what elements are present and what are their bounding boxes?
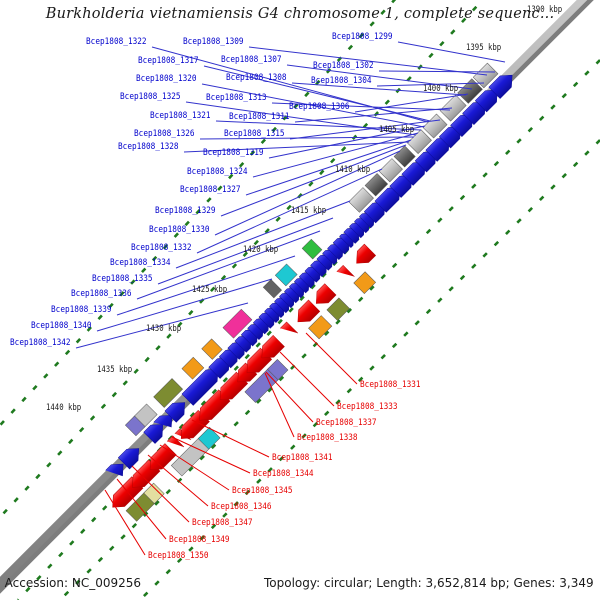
sequence-info-text: Topology: circular; Length: 3,652,814 bp… (264, 576, 594, 590)
ruler-tick: 1425 kbp (192, 286, 227, 295)
leader-line (306, 333, 357, 384)
feature-box (327, 298, 350, 321)
ruler-tick: 1395 kbp (466, 44, 501, 53)
backbone-line (0, 0, 600, 600)
genome-map-canvas[interactable] (0, 0, 600, 600)
gene-arrow (351, 244, 376, 269)
feature-box (302, 239, 322, 259)
leader-line (379, 71, 495, 72)
gene-label[interactable]: Bcep1808_1304 (311, 77, 372, 86)
backbone-shadow (0, 0, 600, 600)
gene-label[interactable]: Bcep1808_1307 (221, 56, 282, 65)
gene-label[interactable]: Bcep1808_1347 (192, 519, 253, 528)
gene-label[interactable]: Bcep1808_1349 (169, 536, 230, 545)
gene-label[interactable]: Bcep1808_1342 (10, 339, 71, 348)
feature-box (354, 272, 376, 294)
gene-label[interactable]: Bcep1808_1327 (180, 186, 241, 195)
gene-label[interactable]: Bcep1808_1308 (226, 74, 287, 83)
guide-lines (0, 0, 600, 600)
gene-label[interactable]: Bcep1808_1319 (203, 149, 264, 158)
gene-label[interactable]: Bcep1808_1326 (134, 130, 195, 139)
gene-label[interactable]: Bcep1808_1336 (71, 290, 132, 299)
feature-box (275, 264, 297, 286)
gene-label[interactable]: Bcep1808_1333 (337, 403, 398, 412)
gene-label[interactable]: Bcep1808_1320 (136, 75, 197, 84)
gene-label[interactable]: Bcep1808_1322 (86, 38, 147, 47)
gene-label[interactable]: Bcep1808_1317 (138, 57, 199, 66)
footer-bar: , Accession: NC_009256 Topology: circula… (0, 576, 600, 596)
gene-label[interactable]: Bcep1808_1345 (232, 487, 293, 496)
ruler-tick: 1440 kbp (46, 404, 81, 413)
gene-label[interactable]: Bcep1808_1339 (51, 306, 112, 315)
gene-label[interactable]: Bcep1808_1302 (313, 62, 374, 71)
feature-box (263, 279, 281, 297)
gene-label[interactable]: Bcep1808_1325 (120, 93, 181, 102)
gene-label[interactable]: Bcep1808_1344 (253, 470, 314, 479)
leader-line (266, 372, 313, 422)
ruler-tick: 1435 kbp (97, 366, 132, 375)
ruler-tick: 1390 kbp (527, 6, 562, 15)
gene-label[interactable]: Bcep1808_1321 (150, 112, 211, 121)
ruler-tick: 1410 kbp (335, 166, 370, 175)
gene-label[interactable]: Bcep1808_1299 (332, 33, 393, 42)
ruler-tick: 1405 kbp (379, 126, 414, 135)
gene-label[interactable]: Bcep1808_1346 (211, 503, 272, 512)
leader-line (265, 373, 294, 437)
gene-label[interactable]: Bcep1808_1332 (131, 244, 192, 253)
gene-label[interactable]: Bcep1808_1315 (224, 130, 285, 139)
gene-label[interactable]: Bcep1808_1330 (149, 226, 210, 235)
gene-label[interactable]: Bcep1808_1341 (272, 454, 333, 463)
ruler-tick: 1430 kbp (146, 325, 181, 334)
leader-line (280, 352, 334, 406)
ruler-tick: 1400 kbp (423, 85, 458, 94)
gene-label[interactable]: Bcep1808_1338 (297, 434, 358, 443)
ruler-tick: 1420 kbp (243, 246, 278, 255)
ruler-tick: 1415 kbp (291, 207, 326, 216)
gene-arrow (337, 265, 355, 283)
gene-label[interactable]: Bcep1808_1331 (360, 381, 421, 390)
feature-box (202, 339, 223, 360)
gene-label[interactable]: Bcep1808_1328 (118, 143, 179, 152)
accession-text: , Accession: NC_009256 (0, 576, 141, 590)
gene-arrow (280, 322, 298, 340)
gene-label[interactable]: Bcep1808_1337 (316, 419, 377, 428)
chromosome-backbone[interactable] (0, 0, 600, 600)
reverse-genes[interactable] (107, 244, 376, 513)
gene-label[interactable]: Bcep1808_1350 (148, 552, 209, 561)
gene-label[interactable]: Bcep1808_1329 (155, 207, 216, 216)
gene-label[interactable]: Bcep1808_1334 (110, 259, 171, 268)
gene-label[interactable]: Bcep1808_1335 (92, 275, 153, 284)
gene-label[interactable]: Bcep1808_1340 (31, 322, 92, 331)
gene-label[interactable]: Bcep1808_1324 (187, 168, 248, 177)
gene-label[interactable]: Bcep1808_1313 (206, 94, 267, 103)
gene-label[interactable]: Bcep1808_1311 (229, 113, 290, 122)
gene-label[interactable]: Bcep1808_1306 (289, 103, 350, 112)
gene-label[interactable]: Bcep1808_1309 (183, 38, 244, 47)
genome-viewer: Burkholderia vietnamiensis G4 chromosome… (0, 0, 600, 600)
